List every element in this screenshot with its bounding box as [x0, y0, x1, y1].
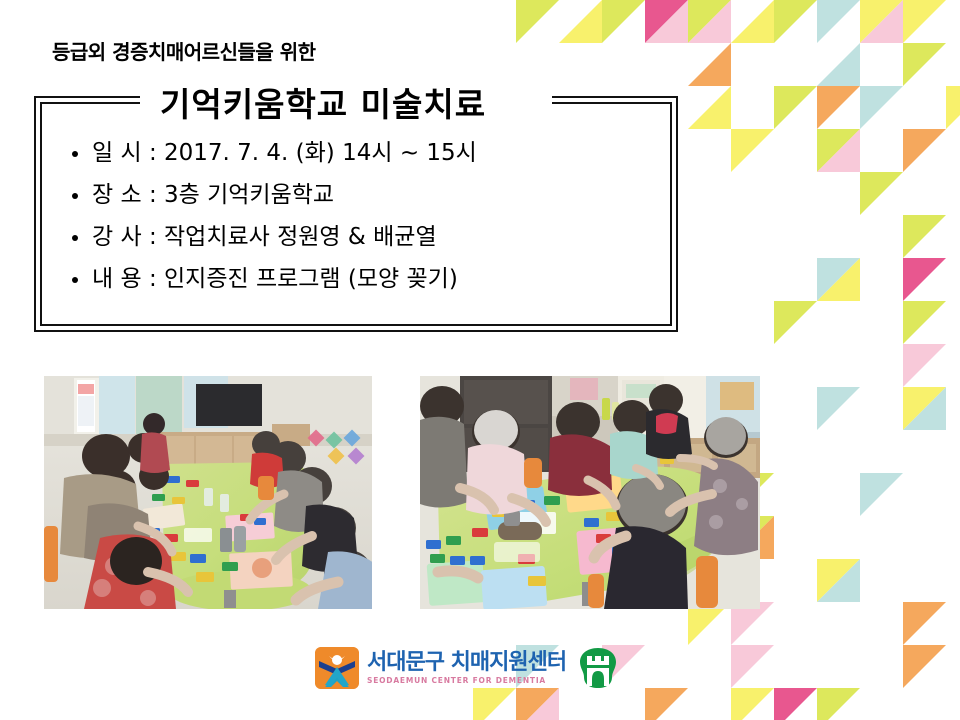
person-figure-icon [315, 647, 359, 689]
decor-triangle [860, 0, 903, 43]
decor-triangle [688, 0, 731, 43]
decor-triangle [903, 258, 946, 301]
decor-triangle [731, 0, 774, 43]
decor-triangle [903, 387, 946, 430]
decor-triangle [946, 86, 960, 129]
decor-triangle [903, 387, 946, 430]
poster-kicker: 등급외 경증치매어르신들을 위한 [52, 36, 316, 65]
decor-triangle [774, 86, 817, 129]
decor-triangle [903, 602, 946, 645]
decor-triangle [903, 301, 946, 344]
photo-activity-right [420, 376, 760, 609]
photo-activity-left [44, 376, 372, 609]
decor-triangle [860, 86, 903, 129]
decor-triangle [817, 43, 860, 86]
decor-triangle [516, 688, 559, 720]
logo-text-block: 서대문구 치매지원센터 SEODAEMUN CENTER FOR DEMENTI… [367, 651, 566, 685]
decor-triangle [817, 86, 860, 129]
photo-left-illustration [44, 376, 372, 609]
gate-emblem-svg [578, 647, 618, 689]
decor-triangle [731, 129, 774, 172]
poster-canvas: 등급외 경증치매어르신들을 위한 기억키움학교 미술치료 일 시 : 2017.… [0, 0, 960, 720]
photo-right-illustration [420, 376, 760, 609]
decor-triangle [860, 473, 903, 516]
decor-triangle [903, 0, 946, 43]
decor-triangle [817, 0, 860, 43]
decor-triangle [903, 129, 946, 172]
decor-triangle [473, 688, 516, 720]
logo-korean-name: 서대문구 치매지원센터 [367, 651, 566, 674]
info-list: 일 시 : 2017. 7. 4. (화) 14시 ~ 15시 장 소 : 3층… [70, 132, 650, 300]
decor-triangle [731, 688, 774, 720]
list-item-datetime: 일 시 : 2017. 7. 4. (화) 14시 ~ 15시 [70, 132, 650, 174]
decor-triangle [817, 559, 860, 602]
decor-triangle [516, 688, 559, 720]
decor-triangle [645, 688, 688, 720]
decor-triangle [903, 215, 946, 258]
page-title: 기억키움학교 미술치료 [160, 78, 486, 126]
decor-triangle [817, 559, 860, 602]
decor-triangle [731, 645, 774, 688]
decor-triangle [774, 688, 817, 720]
decor-triangle [860, 172, 903, 215]
decor-triangle [903, 344, 946, 387]
center-logo-mark-icon [315, 647, 359, 689]
decor-triangle [688, 0, 731, 43]
decor-triangle [860, 0, 903, 43]
list-item-instructor: 강 사 : 작업치료사 정원영 & 배균열 [70, 216, 650, 258]
decor-triangle [602, 0, 645, 43]
decor-triangle [688, 43, 731, 86]
list-item-content: 내 용 : 인지증진 프로그램 (모양 꽂기) [70, 258, 650, 300]
logo-english-name: SEODAEMUN CENTER FOR DEMENTIA [367, 676, 566, 685]
decor-triangle [516, 0, 559, 43]
decor-triangle [645, 0, 688, 43]
decor-triangle [817, 129, 860, 172]
decor-triangle [688, 86, 731, 129]
decor-triangle [817, 688, 860, 720]
decor-triangle [817, 387, 860, 430]
decor-triangle [903, 43, 946, 86]
decor-triangle [559, 0, 602, 43]
decor-triangle [817, 258, 860, 301]
seodaemun-gu-gate-emblem-icon [578, 647, 618, 689]
list-item-location: 장 소 : 3층 기억키움학교 [70, 174, 650, 216]
decor-triangle [817, 258, 860, 301]
decor-triangle [774, 0, 817, 43]
decor-triangle [774, 301, 817, 344]
decor-triangle [903, 645, 946, 688]
decor-triangle [817, 129, 860, 172]
decor-triangle [645, 0, 688, 43]
footer-logo: 서대문구 치매지원센터 SEODAEMUN CENTER FOR DEMENTI… [315, 645, 618, 691]
